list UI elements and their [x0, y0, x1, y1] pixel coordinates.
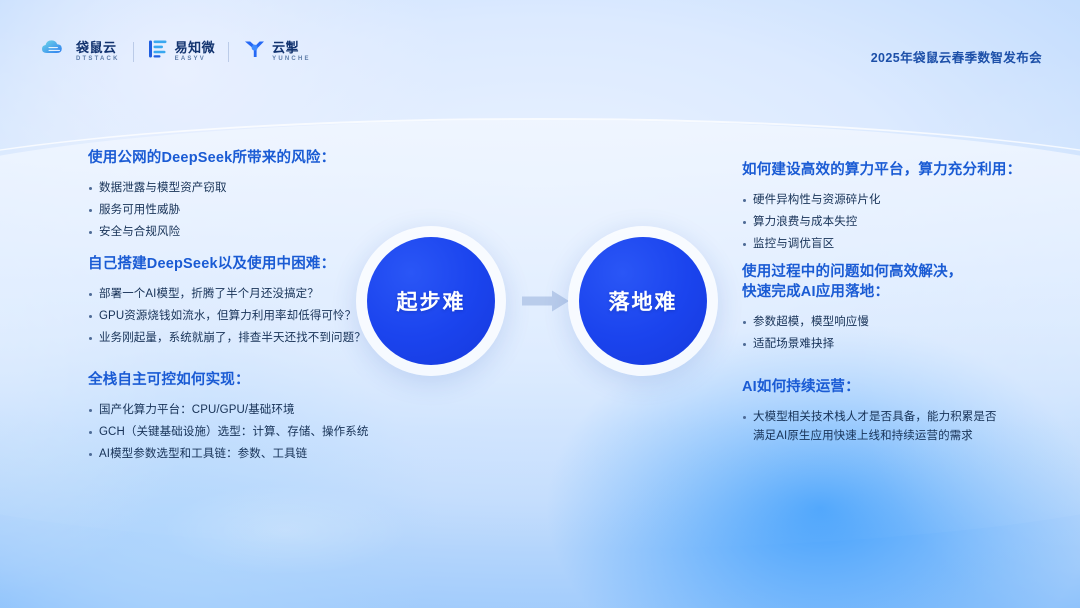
right-arrow-icon — [522, 290, 570, 312]
bullet-list: 参数超模，模型响应慢 适配场景难抉择 — [742, 313, 963, 354]
circle-landing-difficulty: 落地难 — [568, 226, 718, 376]
list-item: GPU资源烧钱如流水，但算力利用率却低得可怜？ — [88, 307, 366, 326]
dtstack-name-en: DTSTACK — [76, 56, 120, 62]
slide-header: 袋鼠云 DTSTACK 易知微 EASYV — [0, 0, 1080, 100]
logo-divider-2 — [228, 42, 229, 62]
block-title: 使用过程中的问题如何高效解决， 快速完成AI应用落地： — [742, 262, 963, 302]
logo-easyv: 易知微 EASYV — [147, 38, 216, 65]
logo-divider-1 — [133, 42, 134, 62]
block-title: 全栈自主可控如何实现： — [88, 370, 388, 390]
list-item: 安全与合规风险 — [88, 223, 335, 242]
background-blob-bottom — [120, 470, 450, 590]
list-item: GCH（关键基础设施）选型：计算、存储、操作系统 — [88, 423, 388, 442]
slide-canvas: 袋鼠云 DTSTACK 易知微 EASYV — [0, 0, 1080, 608]
list-item: 参数超模，模型响应慢 — [742, 313, 963, 332]
list-item: 算力浪费与成本失控 — [742, 213, 1021, 232]
easyv-logo-icon — [147, 38, 169, 65]
circle-start-label: 起步难 — [367, 237, 495, 365]
logo-bar: 袋鼠云 DTSTACK 易知微 EASYV — [40, 38, 311, 65]
block-usage-problem-solving: 使用过程中的问题如何高效解决， 快速完成AI应用落地： 参数超模，模型响应慢 适… — [742, 262, 963, 357]
list-item: 服务可用性威胁 — [88, 201, 335, 220]
block-ai-continuous-operation: AI如何持续运营： 大模型相关技术栈人才是否具备，能力积累是否 满足AI原生应用… — [742, 377, 1042, 449]
list-item: 部署一个AI模型，折腾了半个月还没搞定？ — [88, 285, 366, 304]
easyv-name-en: EASYV — [175, 56, 216, 62]
list-item: 国产化算力平台：CPU/GPU/基础环境 — [88, 401, 388, 420]
block-title: 自己搭建DeepSeek以及使用中困难： — [88, 254, 366, 274]
bullet-list: 国产化算力平台：CPU/GPU/基础环境 GCH（关键基础设施）选型：计算、存储… — [88, 401, 388, 464]
yunche-y-logo-icon — [242, 38, 266, 65]
list-item: 业务刚起量，系统就崩了，排查半天还找不到问题？ — [88, 329, 366, 348]
event-title: 2025年袋鼠云春季数智发布会 — [871, 47, 1042, 66]
bullet-list: 硬件异构性与资源碎片化 算力浪费与成本失控 监控与调优盲区 — [742, 191, 1021, 254]
list-item: 适配场景难抉择 — [742, 335, 963, 354]
list-item: 硬件异构性与资源碎片化 — [742, 191, 1021, 210]
block-fullstack-autonomy: 全栈自主可控如何实现： 国产化算力平台：CPU/GPU/基础环境 GCH（关键基… — [88, 370, 388, 467]
list-item: 大模型相关技术栈人才是否具备，能力积累是否 满足AI原生应用快速上线和持续运营的… — [742, 408, 1042, 446]
block-public-deepseek-risk: 使用公网的DeepSeek所带来的风险： 数据泄露与模型资产窃取 服务可用性威胁… — [88, 148, 335, 245]
logo-yunche: 云掣 YUNCHE — [242, 38, 311, 65]
circle-start-difficulty: 起步难 — [356, 226, 506, 376]
block-compute-platform: 如何建设高效的算力平台，算力充分利用： 硬件异构性与资源碎片化 算力浪费与成本失… — [742, 160, 1021, 257]
easyv-name-cn: 易知微 — [175, 41, 216, 54]
dtstack-cloud-logo-icon — [40, 38, 70, 65]
block-title: 如何建设高效的算力平台，算力充分利用： — [742, 160, 1021, 180]
block-title: 使用公网的DeepSeek所带来的风险： — [88, 148, 335, 168]
block-selfbuild-deepseek-difficulty: 自己搭建DeepSeek以及使用中困难： 部署一个AI模型，折腾了半个月还没搞定… — [88, 254, 366, 351]
list-item: AI模型参数选型和工具链：参数、工具链 — [88, 445, 388, 464]
bullet-list: 数据泄露与模型资产窃取 服务可用性威胁 安全与合规风险 — [88, 179, 335, 242]
circle-landing-label: 落地难 — [579, 237, 707, 365]
yunche-wordmark: 云掣 YUNCHE — [272, 41, 311, 62]
yunche-name-en: YUNCHE — [272, 56, 311, 62]
dtstack-wordmark: 袋鼠云 DTSTACK — [76, 41, 120, 62]
bullet-list: 部署一个AI模型，折腾了半个月还没搞定？ GPU资源烧钱如流水，但算力利用率却低… — [88, 285, 366, 348]
bullet-list: 大模型相关技术栈人才是否具备，能力积累是否 满足AI原生应用快速上线和持续运营的… — [742, 408, 1042, 446]
logo-dtstack: 袋鼠云 DTSTACK — [40, 38, 120, 65]
easyv-wordmark: 易知微 EASYV — [175, 41, 216, 62]
list-item: 数据泄露与模型资产窃取 — [88, 179, 335, 198]
block-title: AI如何持续运营： — [742, 377, 1042, 397]
list-item: 监控与调优盲区 — [742, 235, 1021, 254]
dtstack-name-cn: 袋鼠云 — [76, 41, 120, 54]
yunche-name-cn: 云掣 — [272, 41, 311, 54]
